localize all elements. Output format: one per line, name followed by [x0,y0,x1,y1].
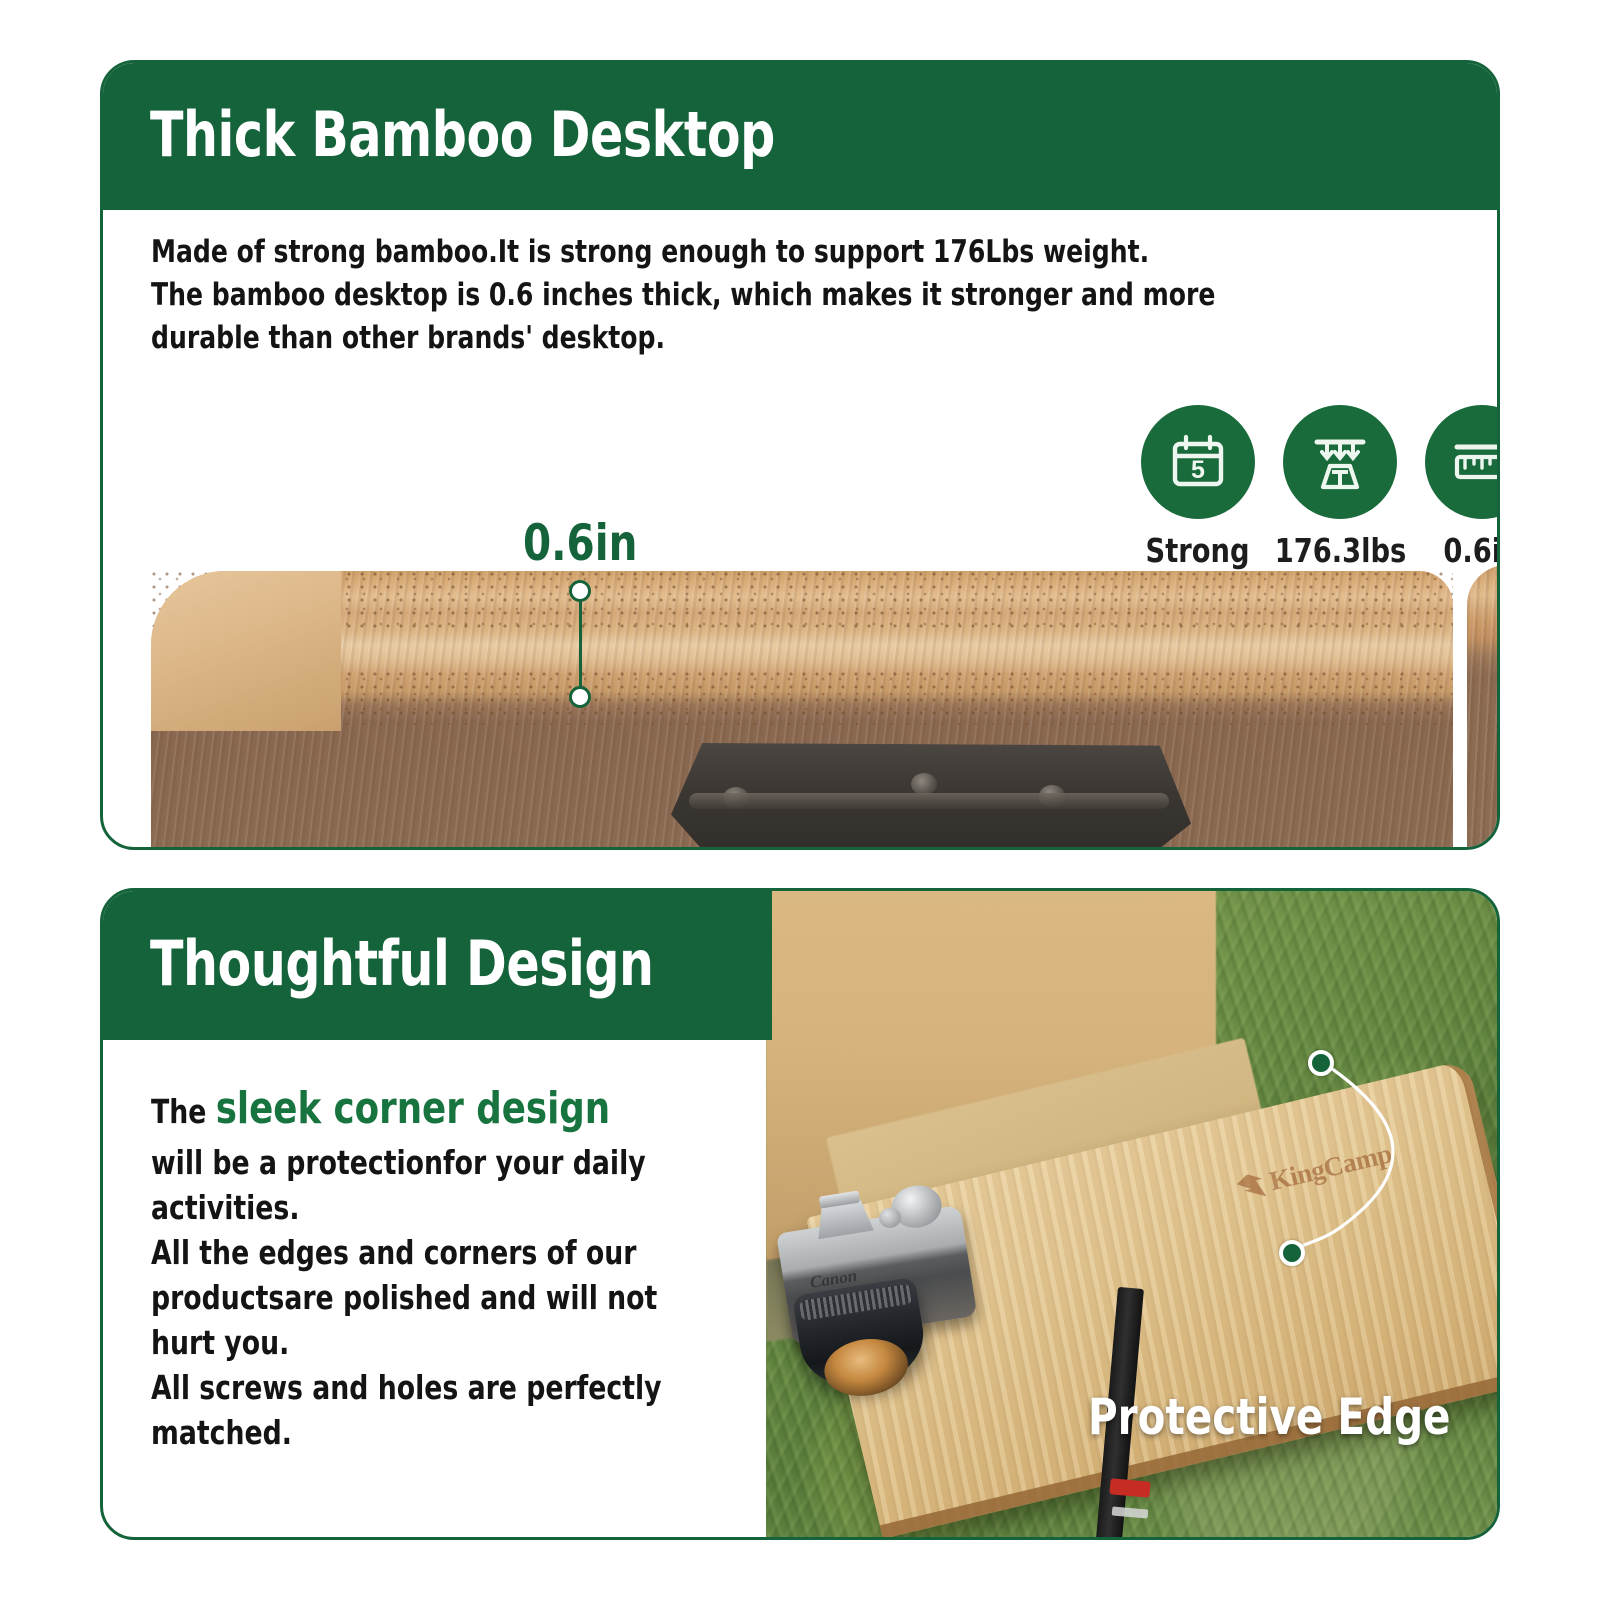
thickness-measure-line [579,590,582,700]
design-body-line: activities. [151,1185,691,1230]
svg-text:5: 5 [1191,456,1205,484]
infographic-page: Thick Bamboo Desktop Made of strong bamb… [0,0,1600,1600]
protective-edge-caption: Protective Edge [1088,1388,1451,1446]
card2-description: The sleek corner design will be a protec… [151,1081,751,1455]
corner-callout-dot-bottom [1279,1240,1305,1266]
design-body-line: productsare polished and will not [151,1275,691,1320]
ruler-icon [1450,430,1500,494]
bracket-edge [689,793,1169,809]
design-body-line: will be a protectionfor your daily [151,1140,691,1185]
design-lead-highlight: sleek corner design [216,1083,610,1134]
bamboo-edge-photo [103,503,1497,850]
protective-edge-photo: KingCamp Canon Protective Edge [766,888,1500,1540]
load-capacity-icon [1308,430,1372,494]
design-body-line: matched. [151,1410,691,1455]
thoughtful-design-card: KingCamp Canon Protective Edge [100,888,1500,1540]
badge-circle: 5 [1141,405,1255,519]
calendar-icon: 5 [1167,431,1229,493]
thickness-callout: 0.6in [523,518,650,568]
bamboo-speckle-mid [151,671,1453,725]
card2-header: Thoughtful Design [100,888,772,1040]
badge-circle [1425,405,1500,519]
thickness-label: 0.6in [523,518,637,568]
thickness-dot-bottom [569,686,591,708]
kingcamp-mark-icon [1235,1171,1266,1202]
table-leg-clip [1109,1478,1150,1497]
card1-title: Thick Bamboo Desktop [150,104,775,166]
design-body-line: hurt you. [151,1320,691,1365]
design-lead-line: The sleek corner design [151,1081,691,1140]
bamboo-speckle-top [151,571,1453,633]
thickness-dot-top [569,580,591,602]
camera: Canon [766,1151,1002,1401]
badge-circle [1283,405,1397,519]
card1-header: Thick Bamboo Desktop [100,60,1500,210]
thick-bamboo-desktop-card: Thick Bamboo Desktop Made of strong bamb… [100,60,1500,850]
bamboo-slab-right [1467,565,1497,850]
card1-description: Made of strong bamboo.It is strong enoug… [151,231,1301,360]
description-line: durable than other brands' desktop. [151,317,1186,360]
corner-callout-dot-top [1308,1050,1334,1076]
description-line: The bamboo desktop is 0.6 inches thick, … [151,274,1186,317]
description-line: Made of strong bamboo.It is strong enoug… [151,231,1186,274]
design-body-line: All screws and holes are perfectly [151,1365,691,1410]
card2-title: Thoughtful Design [150,933,654,995]
design-body-line: All the edges and corners of our [151,1230,691,1275]
design-lead-prefix: The [151,1092,216,1131]
bamboo-rounded-corner [151,571,341,731]
